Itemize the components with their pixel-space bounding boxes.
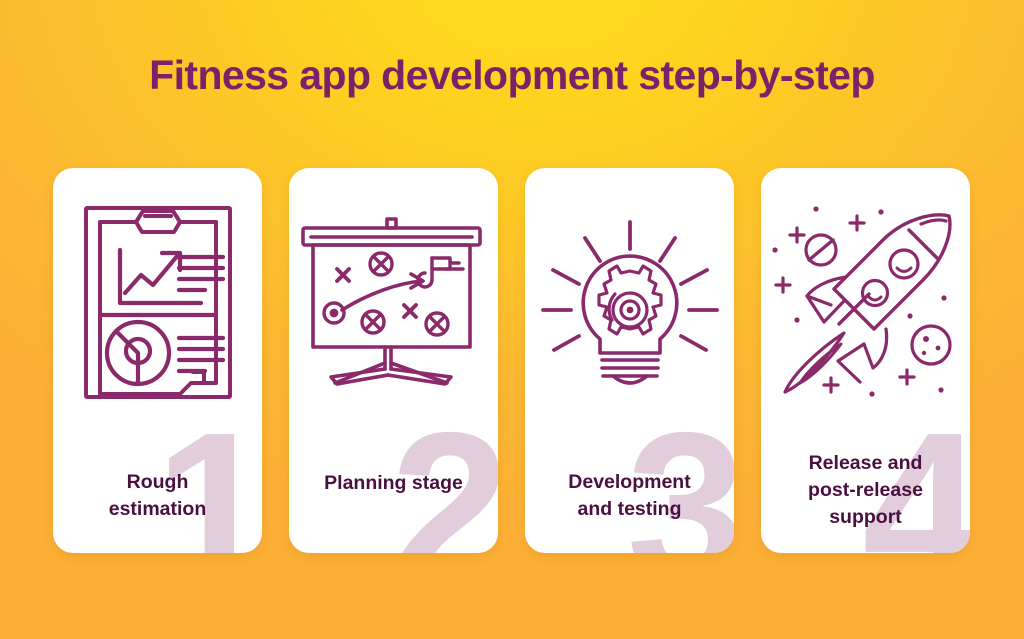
step-label-2: Planning stage [295,470,492,497]
step-card-1[interactable]: 1 [53,168,262,553]
step-card-2[interactable]: 2 [289,168,498,553]
step-label-1: Rough estimation [59,469,256,523]
presentation-board-strategy-icon [289,168,498,436]
step-label-3: Development and testing [531,469,728,523]
page-title: Fitness app development step-by-step [0,52,1024,99]
rocket-launch-icon [761,168,970,436]
step-card-4[interactable]: 4 [761,168,970,553]
step-card-3[interactable]: 3 [525,168,734,553]
lightbulb-gear-icon [525,168,734,436]
infographic-canvas: Fitness app development step-by-step 1 [0,0,1024,639]
step-label-4: Release and post-release support [767,450,964,531]
steps-row: 1 [53,168,973,553]
clipboard-report-icon [53,168,262,436]
